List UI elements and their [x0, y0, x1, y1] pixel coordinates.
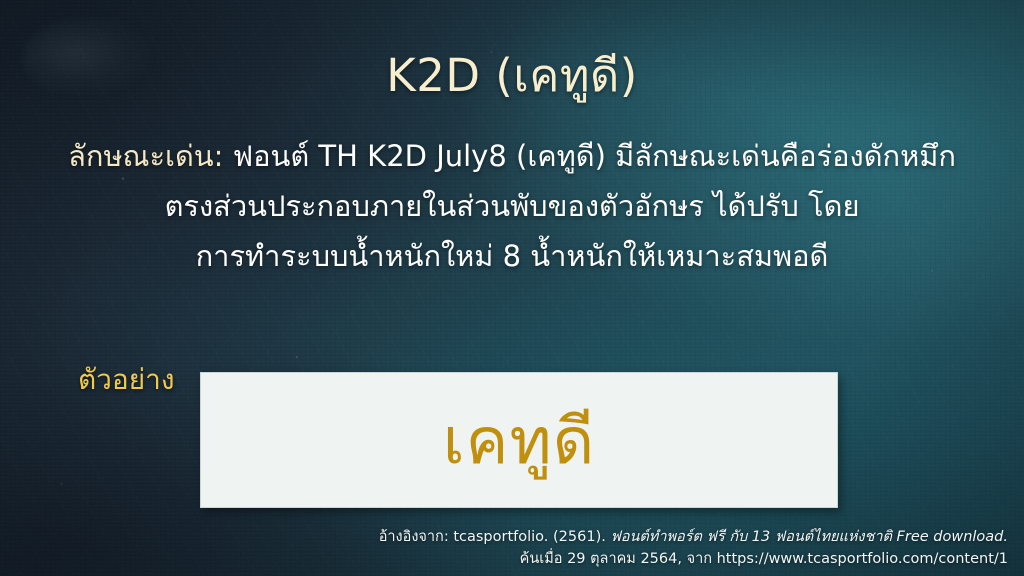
citation: อ้างอิงจาก: tcasportfolio. (2561). ฟอนต์…	[308, 526, 1008, 570]
sample-box: เคทูดี	[200, 372, 838, 508]
citation-line-1: อ้างอิงจาก: tcasportfolio. (2561). ฟอนต์…	[308, 526, 1008, 548]
slide-content: K2D (เคทูดี) ลักษณะเด่น: ฟอนต์ TH K2D Ju…	[0, 0, 1024, 576]
description-line-1-text: ฟอนต์ TH K2D July8 (เคทูดี) มีลักษณะเด่น…	[233, 139, 956, 173]
description-line-3: การทำระบบน้ำหนักใหม่ 8 น้ำหนักให้เหมาะสม…	[0, 231, 1024, 281]
citation-line-2: ค้นเมื่อ 29 ตุลาคม 2564, จาก https://www…	[308, 548, 1008, 570]
slide-title: K2D (เคทูดี)	[0, 52, 1024, 99]
description-block: ลักษณะเด่น: ฟอนต์ TH K2D July8 (เคทูดี) …	[0, 131, 1024, 281]
citation-title: ฟอนต์ทำพอร์ต ฟรี กับ 13 ฟอนต์ไทยแห่งชาติ…	[610, 529, 1008, 545]
sample-text: เคทูดี	[443, 407, 595, 477]
sample-label: ตัวอย่าง	[78, 363, 175, 397]
description-line-2: ตรงส่วนประกอบภายในส่วนพับของตัวอักษร ได้…	[0, 181, 1024, 231]
description-label: ลักษณะเด่น:	[68, 139, 223, 173]
citation-source: อ้างอิงจาก: tcasportfolio. (2561).	[379, 529, 611, 545]
description-line-1: ลักษณะเด่น: ฟอนต์ TH K2D July8 (เคทูดี) …	[0, 131, 1024, 181]
presentation-slide: K2D (เคทูดี) ลักษณะเด่น: ฟอนต์ TH K2D Ju…	[0, 0, 1024, 576]
